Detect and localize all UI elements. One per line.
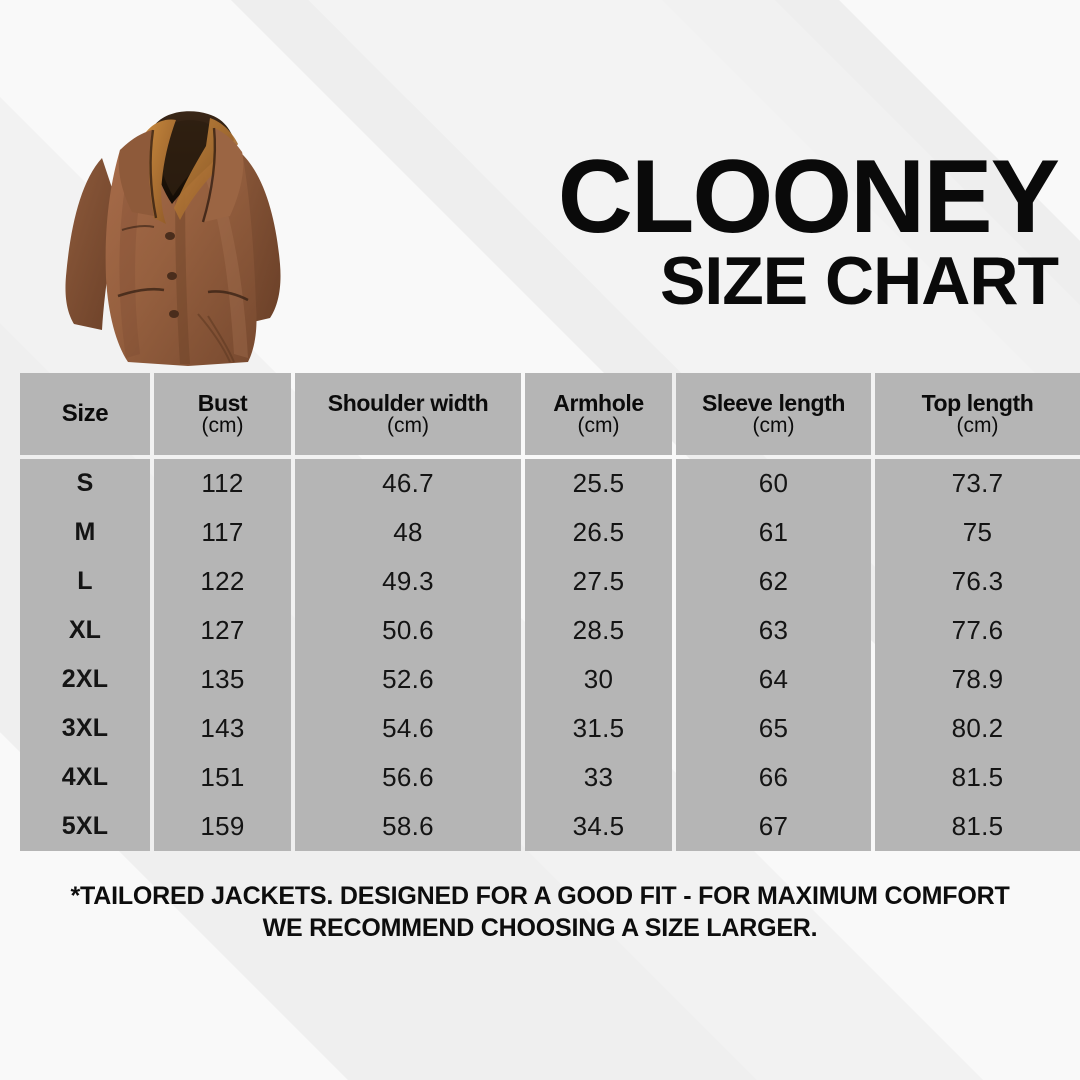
size-cell: 3XL (20, 704, 150, 753)
measurement-cell: 151 (154, 753, 291, 802)
measurement-cell: 54.6 (295, 704, 521, 753)
table-header-cell: Bust(cm) (154, 373, 291, 455)
measurement-cell: 143 (154, 704, 291, 753)
size-chart-table: SizeBust(cm)Shoulder width(cm)Armhole(cm… (20, 373, 1060, 851)
measurement-cell: 60 (676, 459, 871, 508)
table-row: 2XL13552.6306478.9 (20, 655, 1060, 704)
measurement-cell: 73.7 (875, 459, 1080, 508)
measurement-cell: 58.6 (295, 802, 521, 851)
table-body: S11246.725.56073.7M1174826.56175L12249.3… (20, 459, 1060, 851)
title-block: CLOONEY SIZE CHART (558, 150, 1058, 312)
measurement-cell: 122 (154, 557, 291, 606)
header-unit: (cm) (387, 415, 429, 437)
header-label: Sleeve length (702, 391, 845, 415)
measurement-cell: 64 (676, 655, 871, 704)
footer-line-1: *TAILORED JACKETS. DESIGNED FOR A GOOD F… (28, 880, 1052, 912)
measurement-cell: 75 (875, 508, 1080, 557)
measurement-cell: 81.5 (875, 802, 1080, 851)
measurement-cell: 127 (154, 606, 291, 655)
measurement-cell: 25.5 (525, 459, 672, 508)
table-header-cell: Top length(cm) (875, 373, 1080, 455)
measurement-cell: 49.3 (295, 557, 521, 606)
measurement-cell: 27.5 (525, 557, 672, 606)
measurement-cell: 52.6 (295, 655, 521, 704)
measurement-cell: 159 (154, 802, 291, 851)
table-row: M1174826.56175 (20, 508, 1060, 557)
header-unit: (cm) (753, 415, 795, 437)
size-cell: M (20, 508, 150, 557)
measurement-cell: 80.2 (875, 704, 1080, 753)
size-cell: 5XL (20, 802, 150, 851)
table-header-cell: Shoulder width(cm) (295, 373, 521, 455)
size-chart-page: CLOONEY SIZE CHART SizeBust(cm)Shoulder … (0, 0, 1080, 1080)
table-row: XL12750.628.56377.6 (20, 606, 1060, 655)
measurement-cell: 26.5 (525, 508, 672, 557)
jacket-product-image (58, 100, 314, 372)
footer-line-2: WE RECOMMEND CHOOSING A SIZE LARGER. (28, 912, 1052, 944)
footer-note: *TAILORED JACKETS. DESIGNED FOR A GOOD F… (0, 880, 1080, 944)
measurement-cell: 81.5 (875, 753, 1080, 802)
header-unit: (cm) (202, 415, 244, 437)
measurement-cell: 56.6 (295, 753, 521, 802)
size-cell: S (20, 459, 150, 508)
measurement-cell: 30 (525, 655, 672, 704)
header-label: Armhole (553, 391, 644, 415)
size-cell: L (20, 557, 150, 606)
size-cell: 4XL (20, 753, 150, 802)
measurement-cell: 65 (676, 704, 871, 753)
measurement-cell: 63 (676, 606, 871, 655)
measurement-cell: 112 (154, 459, 291, 508)
header-label: Top length (922, 391, 1034, 415)
measurement-cell: 31.5 (525, 704, 672, 753)
table-row: S11246.725.56073.7 (20, 459, 1060, 508)
measurement-cell: 76.3 (875, 557, 1080, 606)
measurement-cell: 66 (676, 753, 871, 802)
brand-title: CLOONEY (558, 150, 1058, 246)
header-unit: (cm) (578, 415, 620, 437)
header-label: Shoulder width (328, 391, 489, 415)
measurement-cell: 28.5 (525, 606, 672, 655)
table-header: SizeBust(cm)Shoulder width(cm)Armhole(cm… (20, 373, 1060, 455)
size-cell: XL (20, 606, 150, 655)
measurement-cell: 67 (676, 802, 871, 851)
header-label: Bust (198, 391, 248, 415)
measurement-cell: 117 (154, 508, 291, 557)
table-row: 4XL15156.6336681.5 (20, 753, 1060, 802)
measurement-cell: 135 (154, 655, 291, 704)
table-row: 3XL14354.631.56580.2 (20, 704, 1060, 753)
table-header-cell: Size (20, 373, 150, 455)
measurement-cell: 46.7 (295, 459, 521, 508)
table-row: L12249.327.56276.3 (20, 557, 1060, 606)
measurement-cell: 34.5 (525, 802, 672, 851)
table-header-cell: Sleeve length(cm) (676, 373, 871, 455)
chart-subtitle: SIZE CHART (558, 250, 1058, 313)
table-header-row: SizeBust(cm)Shoulder width(cm)Armhole(cm… (20, 373, 1060, 455)
measurement-cell: 77.6 (875, 606, 1080, 655)
table-row: 5XL15958.634.56781.5 (20, 802, 1060, 851)
table-header-cell: Armhole(cm) (525, 373, 672, 455)
size-cell: 2XL (20, 655, 150, 704)
measurement-cell: 78.9 (875, 655, 1080, 704)
measurement-cell: 50.6 (295, 606, 521, 655)
measurement-cell: 62 (676, 557, 871, 606)
header-unit: (cm) (957, 415, 999, 437)
measurement-cell: 48 (295, 508, 521, 557)
measurement-cell: 61 (676, 508, 871, 557)
header-label: Size (62, 401, 108, 426)
measurement-cell: 33 (525, 753, 672, 802)
